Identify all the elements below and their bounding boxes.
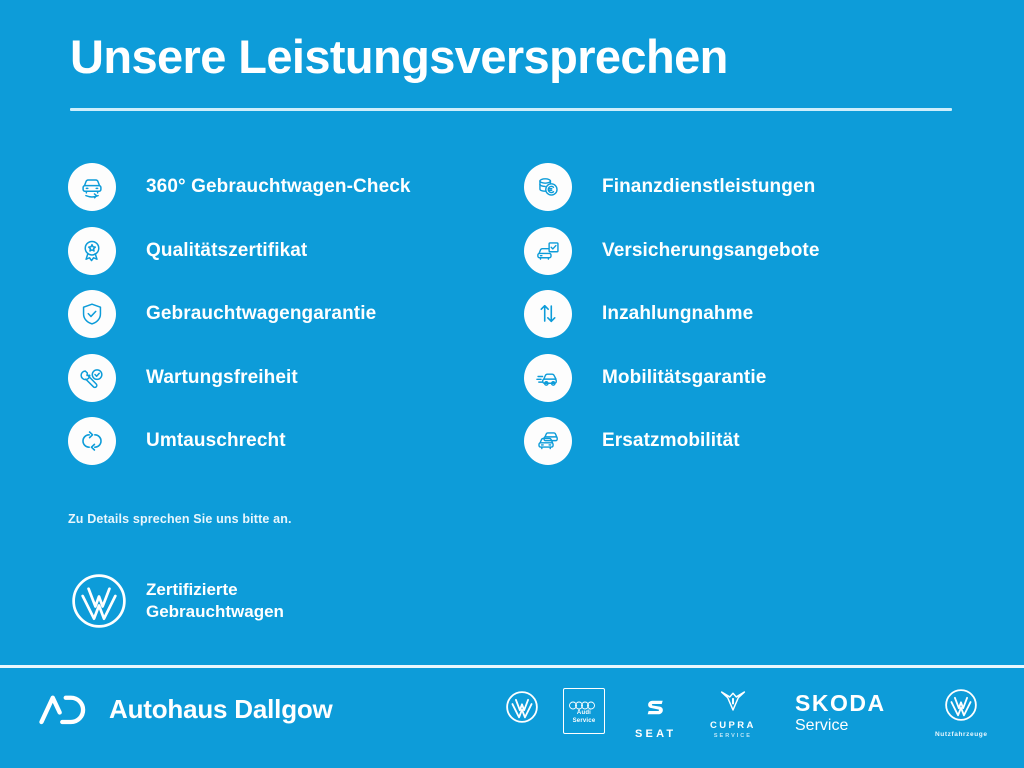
vw-nutzfahrzeuge-label: Nutzfahrzeuge <box>935 731 988 738</box>
feature-item-360-check: 360° Gebrauchtwagen-Check <box>68 163 411 211</box>
vw-logo-icon <box>505 690 539 729</box>
brand-cupra-service: CUPRA SERVICE <box>710 690 756 739</box>
feature-label: Finanzdienstleistungen <box>602 176 815 198</box>
feature-item-quality-certificate: Qualitätszertifikat <box>68 227 411 275</box>
car-insurance-check-icon <box>524 227 572 275</box>
feature-item-warranty: Gebrauchtwagengarantie <box>68 290 411 338</box>
cupra-wordmark: CUPRA <box>710 720 756 731</box>
dealer-identity: Autohaus Dallgow <box>38 692 333 726</box>
certified-badge-line2: Gebrauchtwagen <box>146 602 284 621</box>
features-column-left: 360° Gebrauchtwagen-Check Qualitätszerti… <box>68 163 411 481</box>
feature-label: Umtauschrecht <box>146 430 286 452</box>
brand-seat: SEAT <box>635 698 676 740</box>
feature-item-trade-in: Inzahlungnahme <box>524 290 820 338</box>
feature-label: Gebrauchtwagengarantie <box>146 303 376 325</box>
skoda-wordmark: SKODA <box>795 692 886 715</box>
feature-label: Wartungsfreiheit <box>146 367 298 389</box>
feature-label: 360° Gebrauchtwagen-Check <box>146 176 411 198</box>
feature-item-exchange-right: Umtauschrecht <box>68 417 411 465</box>
feature-label: Versicherungsangebote <box>602 240 820 262</box>
up-down-arrows-icon <box>524 290 572 338</box>
audi-service-box: Audi Service <box>563 688 605 734</box>
cupra-service-label: SERVICE <box>714 733 752 739</box>
promo-page: Unsere Leistungsversprechen 360° Gebrauc… <box>0 0 1024 768</box>
certified-badge-text: Zertifizierte Gebrauchtwagen <box>146 579 284 623</box>
exchange-arrows-icon <box>68 417 116 465</box>
audi-rings-icon <box>569 697 599 706</box>
brand-logo-strip: Audi Service SEAT <box>495 682 1015 744</box>
footer: Autohaus Dallgow <box>0 668 1024 768</box>
cupra-triangle-icon <box>720 690 746 717</box>
title-divider <box>70 108 952 111</box>
certified-used-cars-badge: Zertifizierte Gebrauchtwagen <box>70 572 284 630</box>
certified-badge-line1: Zertifizierte <box>146 580 238 599</box>
feature-item-financial-services: Finanzdienstleistungen <box>524 163 820 211</box>
features-column-right: Finanzdienstleistungen Versicherungsange… <box>524 163 820 481</box>
quality-seal-icon <box>68 227 116 275</box>
coins-euro-icon <box>524 163 572 211</box>
feature-item-insurance-offers: Versicherungsangebote <box>524 227 820 275</box>
brand-skoda-service: SKODA Service <box>795 692 886 735</box>
dealer-name: Autohaus Dallgow <box>109 694 333 725</box>
wrench-check-icon <box>68 354 116 402</box>
brand-vw-nutzfahrzeuge: Nutzfahrzeuge <box>935 688 988 738</box>
page-title: Unsere Leistungsversprechen <box>70 32 728 81</box>
shield-check-icon <box>68 290 116 338</box>
vw-logo-icon <box>944 688 978 727</box>
feature-label: Qualitätszertifikat <box>146 240 307 262</box>
audi-service-label: Audi Service <box>573 710 596 725</box>
audi-line1: Audi <box>577 710 591 716</box>
feature-item-mobility-guarantee: Mobilitätsgarantie <box>524 354 820 402</box>
feature-label: Inzahlungnahme <box>602 303 753 325</box>
footnote-text: Zu Details sprechen Sie uns bitte an. <box>68 512 292 526</box>
feature-label: Mobilitätsgarantie <box>602 367 766 389</box>
feature-label: Ersatzmobilität <box>602 430 740 452</box>
seat-s-icon <box>645 698 667 725</box>
brand-audi-service: Audi Service <box>563 688 605 734</box>
audi-line2: Service <box>573 718 596 724</box>
skoda-service-label: Service <box>795 717 848 735</box>
car-360-check-icon <box>68 163 116 211</box>
feature-item-maintenance-free: Wartungsfreiheit <box>68 354 411 402</box>
feature-item-replacement-mobility: Ersatzmobilität <box>524 417 820 465</box>
vw-logo-icon <box>70 572 128 630</box>
two-cars-icon <box>524 417 572 465</box>
brand-volkswagen <box>505 690 539 729</box>
seat-wordmark: SEAT <box>635 728 676 740</box>
ad-monogram-icon <box>38 692 90 726</box>
car-speed-icon <box>524 354 572 402</box>
